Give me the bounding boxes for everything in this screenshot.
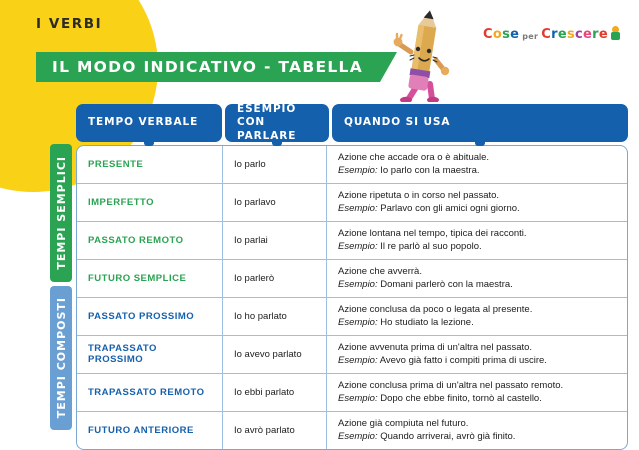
cell-example: Io avevo parlato <box>223 336 327 373</box>
cell-example: Io ho parlato <box>223 298 327 335</box>
verb-tense-table: TEMPO VERBALE ESEMPIO CON PARLARE QUANDO… <box>76 104 628 450</box>
logo-word-per: per <box>522 32 538 42</box>
cell-tense: PASSATO PROSSIMO <box>77 298 223 335</box>
cell-tense: IMPERFETTO <box>77 184 223 221</box>
group-label-text: TEMPI SEMPLICI <box>55 156 68 270</box>
logo-word-crescere: Crescere <box>541 27 608 42</box>
cell-tense: TRAPASSATO REMOTO <box>77 374 223 411</box>
page-title: IL MODO INDICATIVO - TABELLA <box>52 58 363 76</box>
cell-usage: Azione che accade ora o è abituale. Esem… <box>327 146 627 183</box>
cell-usage: Azione avvenuta prima di un'altra nel pa… <box>327 336 627 373</box>
table-row: FUTURO SEMPLICE Io parlerò Azione che av… <box>77 259 627 297</box>
table-row: FUTURO ANTERIORE Io avrò parlato Azione … <box>77 411 627 449</box>
pencil-character-icon <box>392 6 454 102</box>
cell-example: Io parlerò <box>223 260 327 297</box>
usage-example: Esempio: Quando arriverai, avrò già fini… <box>338 430 616 443</box>
group-label-tempi-composti: TEMPI COMPOSTI <box>50 286 72 430</box>
cell-example: Io parlavo <box>223 184 327 221</box>
usage-example: Esempio: Io parlo con la maestra. <box>338 164 616 177</box>
table-row: PRESENTE Io parlo Azione che accade ora … <box>77 146 627 183</box>
cell-example: Io ebbi parlato <box>223 374 327 411</box>
usage-example: Esempio: Parlavo con gli amici ogni gior… <box>338 202 616 215</box>
cell-usage: Azione già compiuta nel futuro. Esempio:… <box>327 412 627 449</box>
usage-example: Esempio: Dopo che ebbe finito, tornò al … <box>338 392 616 405</box>
column-header-tempo-verbale: TEMPO VERBALE <box>76 104 222 142</box>
cell-tense: TRAPASSATO PROSSIMO <box>77 336 223 373</box>
cell-tense: PASSATO REMOTO <box>77 222 223 259</box>
usage-example: Esempio: Avevo già fatto i compiti prima… <box>338 354 616 367</box>
brand-logo[interactable]: Cose per Crescere <box>483 26 623 42</box>
table-row: PASSATO PROSSIMO Io ho parlato Azione co… <box>77 297 627 335</box>
table-row: TRAPASSATO REMOTO Io ebbi parlato Azione… <box>77 373 627 411</box>
cell-tense: PRESENTE <box>77 146 223 183</box>
cell-usage: Azione che avverrà. Esempio: Domani parl… <box>327 260 627 297</box>
usage-example: Esempio: Domani parlerò con la maestra. <box>338 278 616 291</box>
cell-usage: Azione conclusa da poco o legata al pres… <box>327 298 627 335</box>
page-title-banner: IL MODO INDICATIVO - TABELLA <box>36 52 397 82</box>
logo-word-cose: Cose <box>483 27 519 42</box>
table-row: PASSATO REMOTO Io parlai Azione lontana … <box>77 221 627 259</box>
cell-usage: Azione lontana nel tempo, tipica dei rac… <box>327 222 627 259</box>
logo-child-icon <box>609 26 623 42</box>
usage-example: Esempio: Il re parlò al suo popolo. <box>338 240 616 253</box>
table-body: PRESENTE Io parlo Azione che accade ora … <box>76 145 628 450</box>
cell-tense: FUTURO SEMPLICE <box>77 260 223 297</box>
group-label-tempi-semplici: TEMPI SEMPLICI <box>50 144 72 282</box>
group-label-text: TEMPI COMPOSTI <box>55 297 68 418</box>
table-row: TRAPASSATO PROSSIMO Io avevo parlato Azi… <box>77 335 627 373</box>
cell-example: Io avrò parlato <box>223 412 327 449</box>
table-header-row: TEMPO VERBALE ESEMPIO CON PARLARE QUANDO… <box>76 104 628 142</box>
cell-usage: Azione ripetuta o in corso nel passato. … <box>327 184 627 221</box>
table-row: IMPERFETTO Io parlavo Azione ripetuta o … <box>77 183 627 221</box>
cell-example: Io parlo <box>223 146 327 183</box>
column-header-esempio-con-parlare: ESEMPIO CON PARLARE <box>225 104 329 142</box>
column-header-quando-si-usa: QUANDO SI USA <box>332 104 628 142</box>
page-kicker: I VERBI <box>36 16 102 32</box>
usage-example: Esempio: Ho studiato la lezione. <box>338 316 616 329</box>
cell-usage: Azione conclusa prima di un'altra nel pa… <box>327 374 627 411</box>
cell-example: Io parlai <box>223 222 327 259</box>
cell-tense: FUTURO ANTERIORE <box>77 412 223 449</box>
